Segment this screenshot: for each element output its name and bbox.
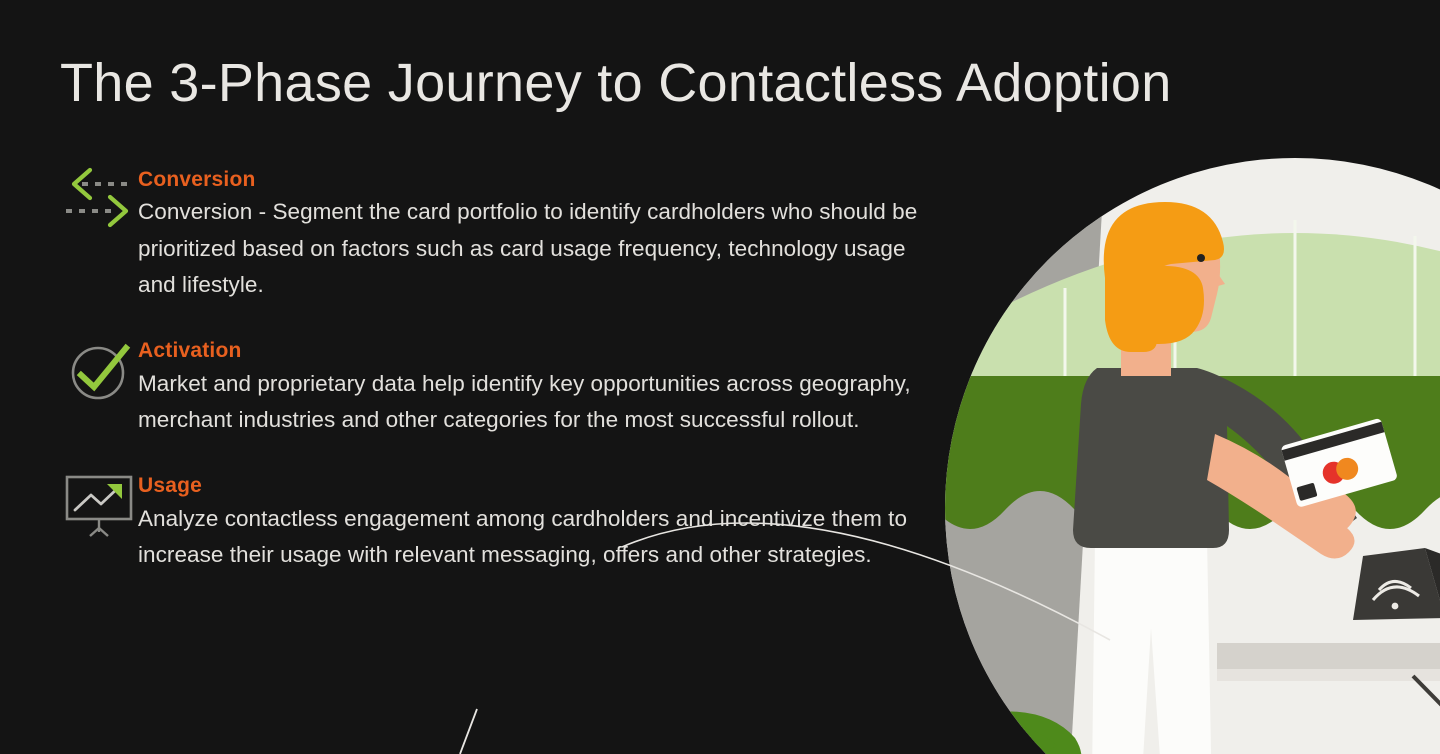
two-way-dashed-arrows-icon (60, 158, 138, 236)
phase-text-conversion: Conversion Conversion - Segment the card… (138, 158, 928, 303)
phase-item-usage: Usage Analyze contactless engagement amo… (60, 464, 940, 573)
phase-text-activation: Activation Market and proprietary data h… (138, 329, 928, 438)
decorative-diagonal (460, 709, 477, 754)
phase-heading: Usage (138, 474, 928, 498)
phase-item-activation: Activation Market and proprietary data h… (60, 329, 940, 438)
phase-heading: Activation (138, 339, 928, 363)
check-circle-icon (60, 331, 138, 409)
phase-heading: Conversion (138, 168, 928, 192)
presentation-chart-icon (60, 466, 138, 544)
phase-text-usage: Usage Analyze contactless engagement amo… (138, 464, 928, 573)
phase-item-conversion: Conversion Conversion - Segment the card… (60, 158, 940, 303)
page-title: The 3-Phase Journey to Contactless Adopt… (60, 52, 1172, 114)
phase-body: Market and proprietary data help identif… (138, 366, 928, 439)
slide-root: The 3-Phase Journey to Contactless Adopt… (0, 0, 1440, 754)
phase-body: Analyze contactless engagement among car… (138, 501, 928, 574)
phase-list: Conversion Conversion - Segment the card… (60, 158, 940, 595)
phase-body: Conversion - Segment the card portfolio … (138, 194, 928, 303)
